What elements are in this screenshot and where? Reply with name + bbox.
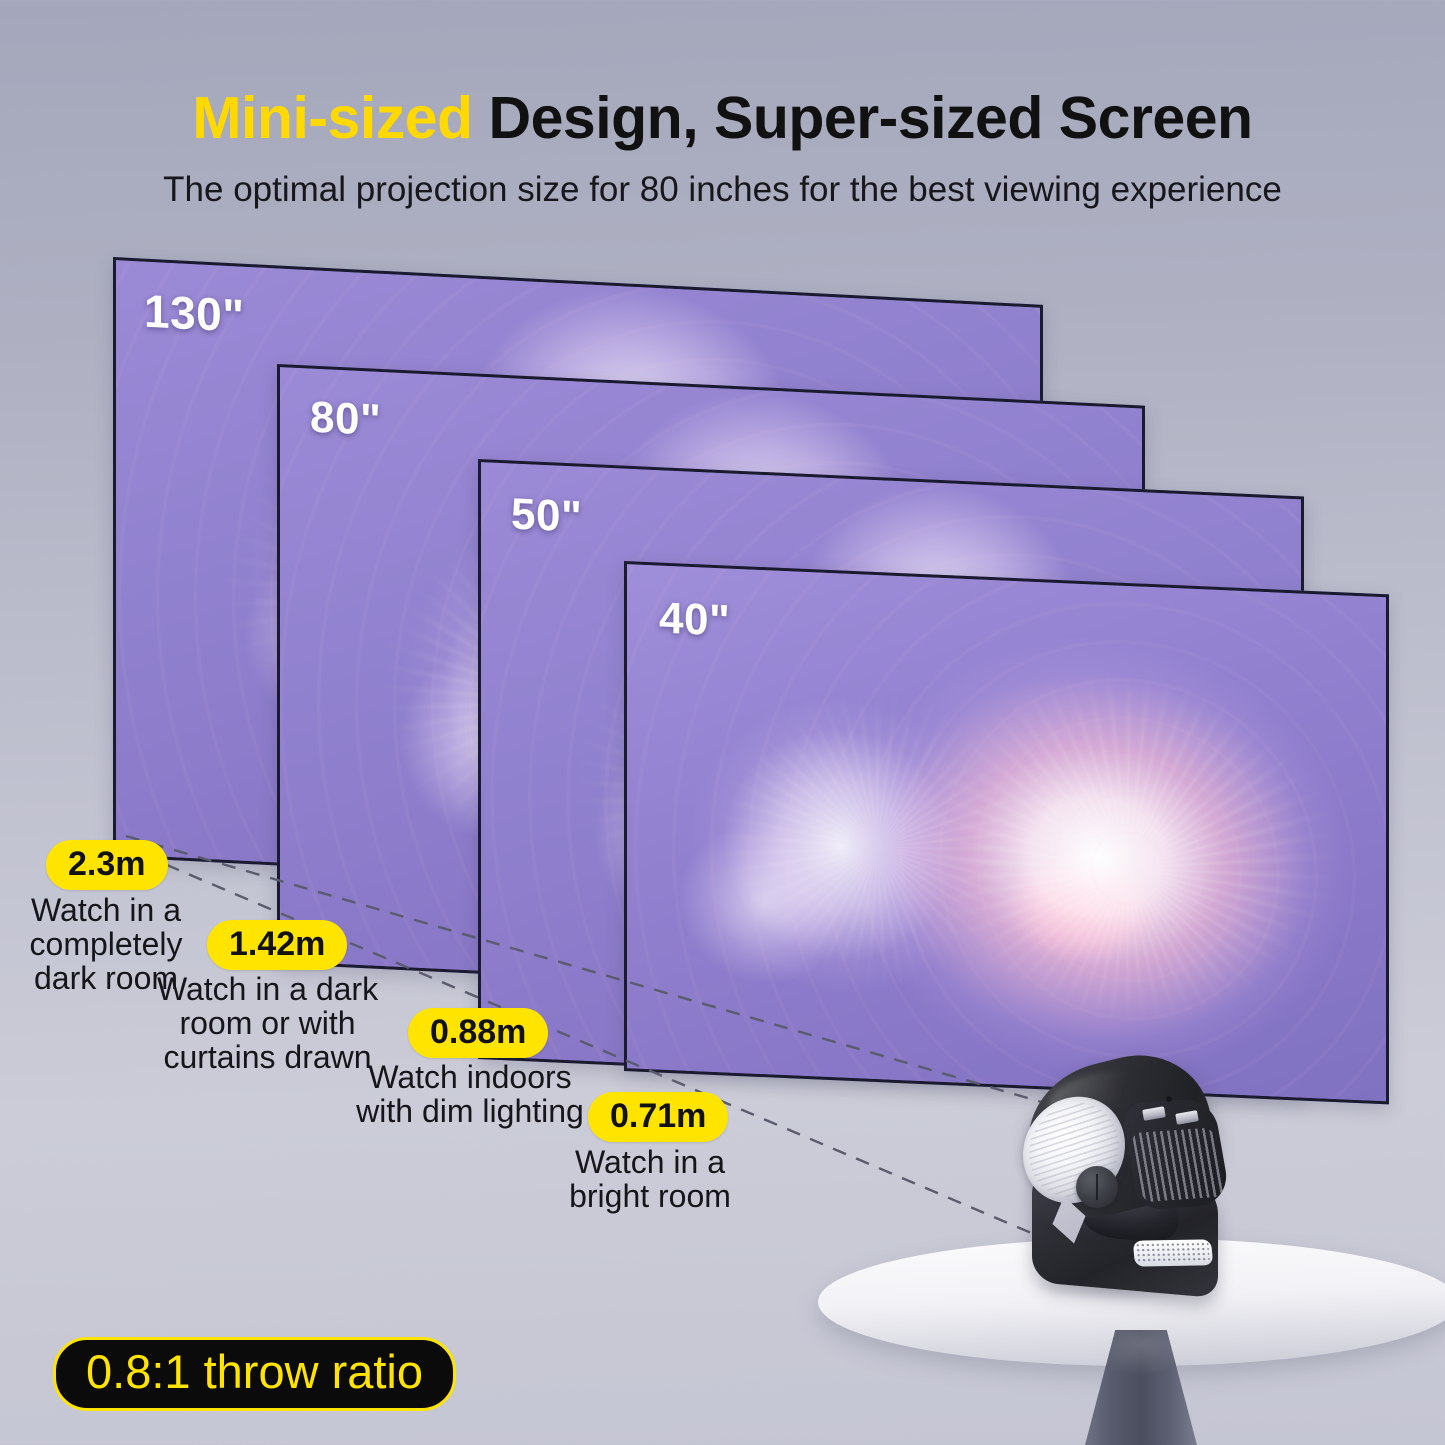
page-title: Mini-sized Design, Super-sized Screen: [0, 84, 1445, 152]
headline-rest: Design, Super-sized Screen: [473, 85, 1253, 151]
distance-badge-1-42m: 1.42m: [207, 920, 347, 970]
distance-badge-2-3m: 2.3m: [46, 840, 168, 890]
distance-caption-0-71m: Watch in a bright room: [555, 1145, 745, 1213]
projector-device: [1010, 1060, 1260, 1290]
projector-indicator-dot: [1166, 1096, 1172, 1102]
projector-pivot-knob: [1076, 1166, 1118, 1208]
distance-caption-0-88m: Watch indoors with dim lighting: [350, 1060, 590, 1128]
headline-accent: Mini-sized: [192, 85, 472, 151]
marketing-graphic: Mini-sized Design, Super-sized Screen Th…: [0, 0, 1445, 1445]
petal-ruffle-texture: [627, 564, 1386, 1101]
projector-speaker-grille: [1133, 1239, 1213, 1266]
throw-ratio-badge: 0.8:1 throw ratio: [53, 1337, 456, 1411]
page-subtitle: The optimal projection size for 80 inche…: [0, 170, 1445, 210]
distance-badge-0-88m: 0.88m: [408, 1008, 548, 1058]
screen-size-label: 40": [659, 594, 730, 647]
distance-badge-0-71m: 0.71m: [588, 1092, 728, 1142]
distance-caption-1-42m: Watch in a dark room or with curtains dr…: [155, 972, 380, 1075]
screen-size-label: 50": [511, 489, 582, 542]
screen-size-label: 130": [144, 284, 245, 343]
screen-size-label: 80": [310, 393, 381, 446]
projection-screen-40: 40": [624, 561, 1389, 1104]
